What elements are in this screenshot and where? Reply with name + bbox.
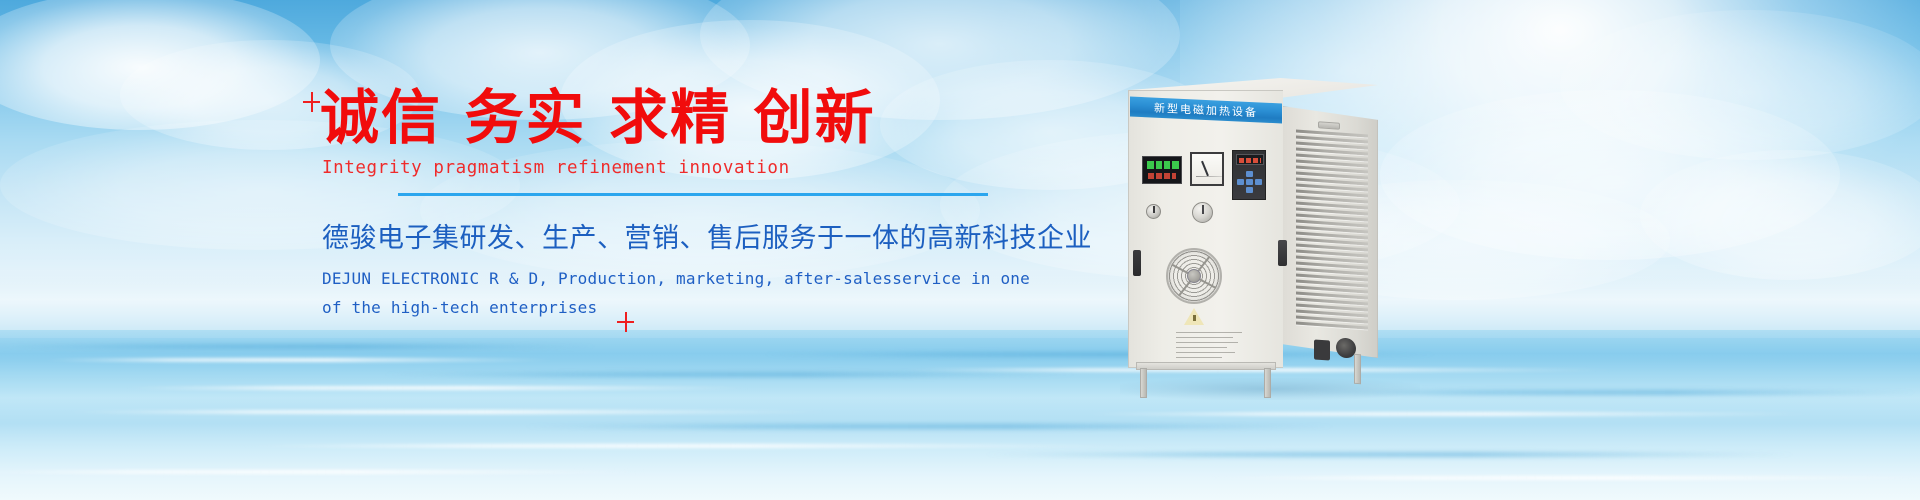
water-wave [60, 410, 840, 414]
machine-side-port [1314, 339, 1330, 360]
control-knob-small [1146, 204, 1161, 219]
water-wave [240, 444, 1140, 448]
page-title: 诚信 务实 求精 创新 [320, 86, 1078, 150]
machine-front-vent [1133, 250, 1141, 276]
water-wave [40, 358, 560, 362]
control-keypad [1232, 150, 1266, 200]
keypad-key [1246, 187, 1253, 193]
warning-triangle-shape [1184, 308, 1204, 325]
fan-hub [1187, 269, 1201, 283]
product-image-heating-machine: 新型电磁加热设备 [1118, 62, 1448, 392]
keypad-key [1237, 179, 1244, 185]
keypad-keys [1237, 171, 1263, 195]
subtitle-english-line-2: of the high-tech enterprises [322, 293, 1078, 323]
display-green-segments [1147, 161, 1179, 169]
water-wave [1200, 476, 1920, 480]
banner-text-block: 诚信 务实 求精 创新 Integrity pragmatism refinem… [318, 86, 1078, 323]
digital-display [1142, 156, 1182, 184]
water-wave [1080, 412, 1820, 416]
water-wave [980, 452, 1800, 457]
machine-base-bar [1136, 362, 1276, 370]
machine-leg [1140, 368, 1147, 398]
warning-triangle-icon [1184, 308, 1204, 326]
subtitle-english-line-1: DEJUN ELECTRONIC R & D, Production, mark… [322, 264, 1078, 294]
keypad-key [1255, 179, 1262, 185]
keypad-key [1246, 171, 1253, 177]
machine-side-outlet [1336, 337, 1356, 358]
machine-leg [1354, 354, 1361, 384]
cloud-shape [0, 0, 320, 130]
water-wave [120, 386, 760, 390]
machine-nameplate-label: 新型电磁加热设备 [1154, 100, 1258, 121]
water-surface [0, 330, 1920, 500]
tagline-english: Integrity pragmatism refinement innovati… [322, 158, 1078, 178]
divider [398, 193, 988, 196]
machine-side-handle [1318, 121, 1340, 130]
machine-leg [1264, 368, 1271, 398]
subtitle-chinese: 德骏电子集研发、生产、营销、售后服务于一体的高新科技企业 [322, 216, 1078, 255]
cloud-shape [1380, 90, 1840, 260]
promo-banner: 诚信 务实 求精 创新 Integrity pragmatism refinem… [0, 0, 1920, 500]
keypad-key [1246, 179, 1253, 185]
machine-instruction-label [1176, 332, 1242, 362]
meter-scale [1196, 176, 1222, 177]
meter-needle [1201, 161, 1208, 176]
control-knob-large [1192, 202, 1213, 223]
analog-meter [1190, 152, 1224, 186]
keypad-screen [1236, 154, 1264, 165]
display-red-segments [1148, 173, 1176, 179]
machine-ventilation-louvers [1296, 129, 1368, 334]
cloud-shape [1560, 10, 1920, 160]
water-wave [0, 470, 660, 474]
water-wave [520, 424, 1340, 429]
water-wave [380, 372, 1080, 377]
machine-door-latch [1278, 240, 1287, 266]
water-wave [0, 344, 600, 349]
cloud-shape [1640, 150, 1920, 280]
machine-front-panel [1128, 90, 1283, 368]
